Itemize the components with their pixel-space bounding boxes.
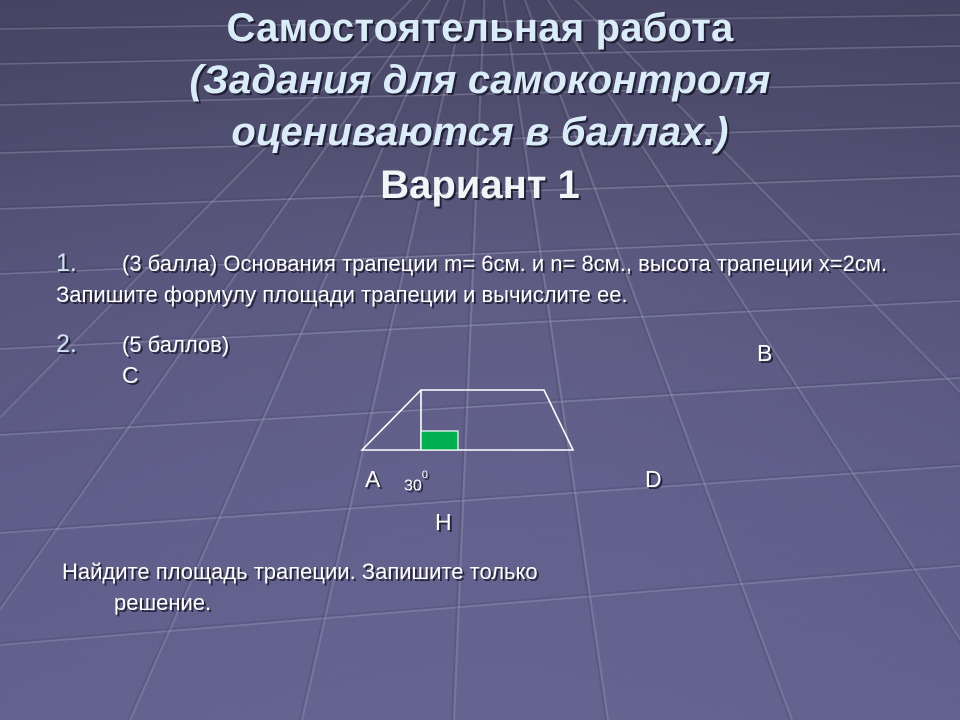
trapezoid-outline [362, 390, 573, 450]
vertex-label-b: B [757, 340, 772, 366]
vertex-label-d: D [645, 466, 662, 492]
task-number-1: 1. [56, 248, 110, 279]
angle-label-30-degrees: 300 [404, 472, 428, 495]
vertex-label-c: C [122, 362, 139, 388]
slide-canvas: Самостоятельная работа (Задания для само… [0, 0, 960, 720]
closing-instruction: Найдите площадь трапеции. Запишите тольк… [62, 556, 832, 618]
task-item-2: 2. (5 баллов) [56, 329, 916, 360]
task-text-2: (5 баллов) [122, 332, 229, 357]
closing-line-1: Найдите площадь трапеции. Запишите тольк… [62, 559, 538, 584]
task-number-2: 2. [56, 329, 110, 360]
variant-label: Вариант 1 [0, 160, 960, 210]
angle-value: 30 [404, 477, 422, 494]
task-item-1: 1. (3 балла) Основания трапеции m= 6см. … [56, 248, 916, 310]
task-list: 1. (3 балла) Основания трапеции m= 6см. … [56, 248, 916, 360]
degree-symbol: 0 [422, 469, 428, 481]
vertex-label-a: A [365, 466, 380, 492]
vertex-label-h: H [435, 509, 452, 535]
page-title-line-1: Самостоятельная работа [0, 2, 960, 54]
closing-line-2: решение. [62, 587, 832, 618]
slide-title-block: Самостоятельная работа (Задания для само… [0, 2, 960, 210]
right-angle-marker [421, 431, 458, 450]
trapezoid-figure [340, 375, 600, 465]
page-title-line-2: (Задания для самоконтроля [0, 54, 960, 106]
page-title-line-3: оцениваются в баллах.) [0, 106, 960, 158]
task-text-1: (3 балла) Основания трапеции m= 6см. и n… [56, 251, 893, 307]
